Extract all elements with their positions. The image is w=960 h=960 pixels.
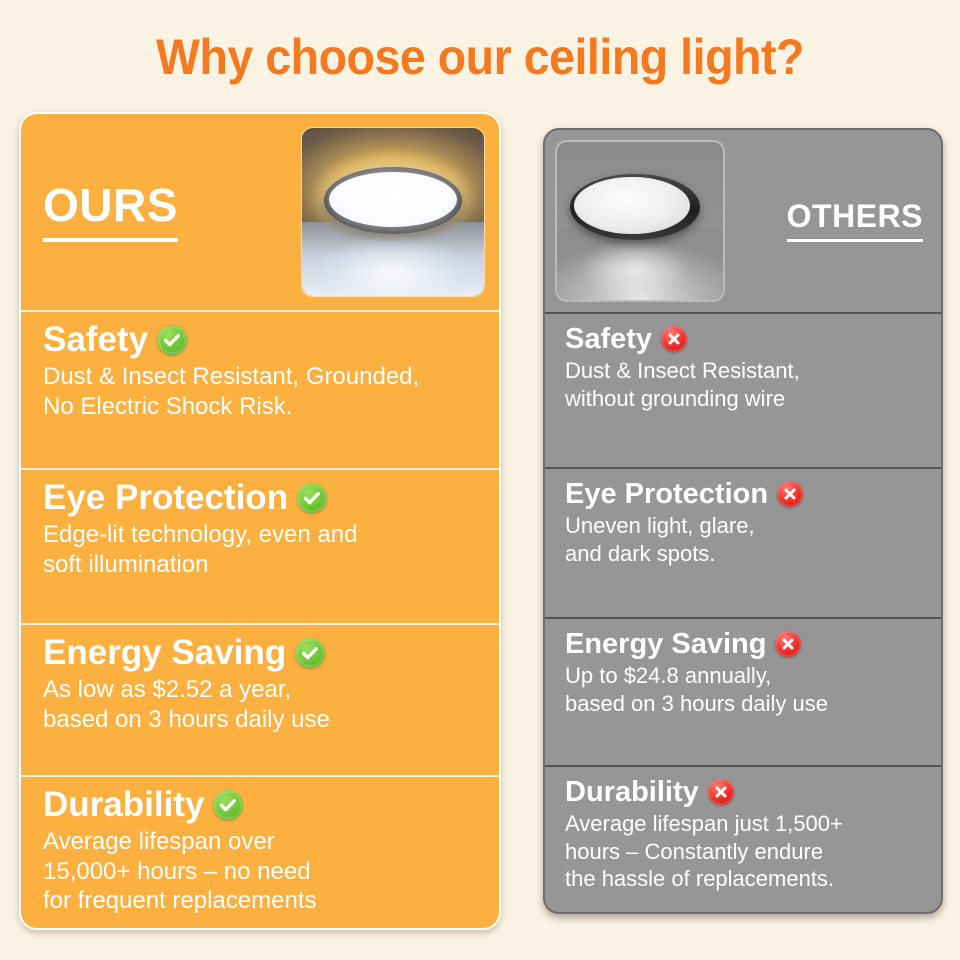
others-header: OTHERS — [545, 130, 941, 312]
feature-title: Safety — [565, 324, 927, 354]
feature-title: Safety — [43, 322, 479, 359]
lamp-diffuser — [329, 172, 456, 227]
ours-feature-row-safety: Safety Dust & Insect Resistant, Grounded… — [21, 310, 499, 468]
others-feature-row-energy-saving: Energy Saving Up to $24.8 annually, base… — [545, 617, 941, 765]
feature-description: Dust & Insect Resistant, Grounded, No El… — [43, 362, 479, 422]
x-circle-icon — [775, 631, 801, 657]
feature-description: Average lifespan just 1,500+ hours – Con… — [565, 810, 927, 892]
x-circle-icon — [661, 326, 687, 352]
ours-product-photo — [301, 127, 485, 297]
ours-feature-row-eye-protection: Eye Protection Edge-lit technology, even… — [21, 468, 499, 623]
check-circle-icon — [297, 483, 327, 513]
ours-brand-label: OURS — [43, 182, 178, 242]
feature-title: Eye Protection — [565, 479, 927, 509]
feature-description: Up to $24.8 annually, based on 3 hours d… — [565, 662, 927, 717]
feature-title: Energy Saving — [565, 629, 927, 659]
check-circle-icon — [157, 325, 187, 355]
page-title: Why choose our ceiling light? — [34, 28, 927, 86]
others-feature-row-eye-protection: Eye Protection Uneven light, glare, and … — [545, 467, 941, 617]
feature-title-text: Durability — [565, 777, 699, 807]
feature-title: Durability — [43, 787, 479, 824]
check-circle-icon — [213, 790, 243, 820]
feature-title: Energy Saving — [43, 635, 479, 672]
feature-description: Average lifespan over 15,000+ hours – no… — [43, 827, 479, 916]
ours-header: OURS — [21, 114, 499, 310]
feature-description: Dust & Insect Resistant, without groundi… — [565, 357, 927, 412]
ours-comparison-panel: OURS Safety Dust & Insect Resistant, Gro… — [19, 112, 501, 930]
feature-title: Durability — [565, 777, 927, 807]
lamp-light-spill — [320, 239, 466, 297]
others-feature-row-safety: Safety Dust & Insect Resistant, without … — [545, 312, 941, 467]
feature-title-text: Energy Saving — [43, 635, 286, 672]
feature-title: Eye Protection — [43, 480, 479, 517]
ours-feature-row-durability: Durability Average lifespan over 15,000+… — [21, 775, 499, 930]
others-brand-label: OTHERS — [787, 200, 923, 242]
x-circle-icon — [777, 481, 803, 507]
others-feature-row-durability: Durability Average lifespan just 1,500+ … — [545, 765, 941, 914]
ours-feature-row-energy-saving: Energy Saving As low as $2.52 a year, ba… — [21, 623, 499, 775]
check-circle-icon — [295, 638, 325, 668]
others-comparison-panel: OTHERS Safety Dust & Insect Resistant, w… — [543, 128, 943, 914]
x-circle-icon — [708, 779, 734, 805]
feature-title-text: Eye Protection — [565, 479, 768, 509]
lamp-diffuser — [574, 177, 690, 234]
feature-title-text: Safety — [43, 322, 148, 359]
others-product-photo — [555, 140, 725, 302]
feature-description: Edge-lit technology, even and soft illum… — [43, 520, 479, 580]
feature-description: As low as $2.52 a year, based on 3 hours… — [43, 675, 479, 735]
feature-title-text: Safety — [565, 324, 652, 354]
feature-title-text: Durability — [43, 787, 204, 824]
feature-title-text: Eye Protection — [43, 480, 288, 517]
feature-description: Uneven light, glare, and dark spots. — [565, 512, 927, 567]
feature-title-text: Energy Saving — [565, 629, 766, 659]
lamp-light-spill — [580, 243, 690, 297]
